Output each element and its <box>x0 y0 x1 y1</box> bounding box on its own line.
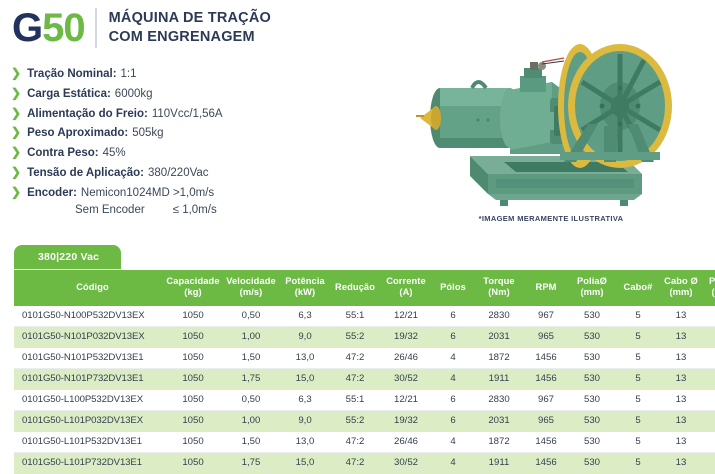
table-row: 0101G50-L101P732DV13E110501,7515,047:230… <box>14 452 715 473</box>
table-cell: 12/21 <box>380 306 432 327</box>
spec-item: ❯ Tração Nominal: 1:1 <box>11 66 351 83</box>
table-cell: 530 <box>568 326 616 347</box>
table-cell: 1,50 <box>222 347 280 368</box>
spec-subitem: Sem Encoder ≤ 1,0m/s <box>75 204 351 216</box>
spec-value: 6000kg <box>115 86 153 103</box>
table-cell: 9,0 <box>280 326 330 347</box>
spec-label: Contra Peso: <box>27 145 99 162</box>
col-header-passo: Passo (mm) <box>702 270 715 306</box>
logo-number: 50 <box>42 6 85 50</box>
spec-value: 45% <box>103 145 126 162</box>
table-cell: 1456 <box>524 431 568 452</box>
table-cell: 1050 <box>164 410 222 431</box>
cell-codigo: 0101G50-N101P532DV13E1 <box>14 347 164 368</box>
spec-value: 110Vcc/1,56A <box>152 106 223 123</box>
table-cell: 965 <box>524 410 568 431</box>
table-cell: 1911 <box>474 368 524 389</box>
spec-label: Carga Estática: <box>27 86 111 103</box>
table-cell: 5 <box>616 452 660 473</box>
page-title-line2: COM ENGRENAGEM <box>109 28 271 47</box>
table-cell: 1911 <box>474 452 524 473</box>
cell-codigo: 0101G50-L101P532DV13E1 <box>14 431 164 452</box>
table-row: 0101G50-N100P532DV13EX10500,506,355:112/… <box>14 306 715 327</box>
spec-table: Código Capacidade (kg) Velocidade (m/s) … <box>14 270 715 474</box>
spec-value: 505kg <box>132 125 163 142</box>
cell-codigo: 0101G50-N101P732DV13E1 <box>14 368 164 389</box>
spec-item: ❯ Peso Aproximado: 505kg <box>11 125 351 142</box>
table-cell: 2031 <box>474 410 524 431</box>
table-cell: 1872 <box>474 431 524 452</box>
cell-codigo: 0101G50-N101P032DV13EX <box>14 326 164 347</box>
table-header-row: Código Capacidade (kg) Velocidade (m/s) … <box>14 270 715 306</box>
table-cell: 13,0 <box>280 431 330 452</box>
cell-codigo: 0101G50-N100P532DV13EX <box>14 306 164 327</box>
table-cell: 0,50 <box>222 389 280 410</box>
table-cell: 19 <box>702 431 715 452</box>
table-cell: 13 <box>660 347 702 368</box>
chevron-right-icon: ❯ <box>11 165 21 181</box>
table-cell: 1,75 <box>222 368 280 389</box>
table-cell: 47:2 <box>330 347 380 368</box>
table-cell: 30/52 <box>380 368 432 389</box>
table-cell: 15,0 <box>280 368 330 389</box>
table-row: 0101G50-L101P032DV13EX10501,009,055:219/… <box>14 410 715 431</box>
page-header: G50 MÁQUINA DE TRAÇÃO COM ENGRENAGEM <box>12 8 271 48</box>
table-cell: 19 <box>702 306 715 327</box>
table-cell: 6,3 <box>280 306 330 327</box>
voltage-tab[interactable]: 380|220 Vac <box>14 245 121 269</box>
table-row: 0101G50-N101P032DV13EX10501,009,055:219/… <box>14 326 715 347</box>
table-header: Código Capacidade (kg) Velocidade (m/s) … <box>14 270 715 306</box>
col-header-cabo-diametro: Cabo Ø (mm) <box>660 270 702 306</box>
table-cell: 19 <box>702 389 715 410</box>
table-cell: 530 <box>568 368 616 389</box>
spec-item: ❯ Alimentação do Freio: 110Vcc/1,56A <box>11 106 351 123</box>
spec-item: ❯ Encoder: Nemicon1024MD >1,0m/s <box>11 185 351 202</box>
table-cell: 5 <box>616 431 660 452</box>
logo-letter: G <box>12 6 42 50</box>
page-title: MÁQUINA DE TRAÇÃO COM ENGRENAGEM <box>109 9 271 46</box>
table-cell: 0,50 <box>222 306 280 327</box>
table-cell: 47:2 <box>330 452 380 473</box>
table-cell: 12/21 <box>380 389 432 410</box>
table-cell: 967 <box>524 389 568 410</box>
table-row: 0101G50-N101P532DV13E110501,5013,047:226… <box>14 347 715 368</box>
spec-value: 1:1 <box>121 66 137 83</box>
col-header-rpm: RPM <box>524 270 568 306</box>
table-row: 0101G50-N101P732DV13E110501,7515,047:230… <box>14 368 715 389</box>
table-cell: 1050 <box>164 368 222 389</box>
table-cell: 4 <box>432 431 474 452</box>
chevron-right-icon: ❯ <box>11 125 21 141</box>
table-cell: 6 <box>432 389 474 410</box>
table-cell: 530 <box>568 389 616 410</box>
table-cell: 55:1 <box>330 306 380 327</box>
table-cell: 530 <box>568 410 616 431</box>
table-cell: 26/46 <box>380 431 432 452</box>
spec-sub-label: Sem Encoder <box>75 204 145 216</box>
spec-sub-value: ≤ 1,0m/s <box>173 204 217 216</box>
table-body: 0101G50-N100P532DV13EX10500,506,355:112/… <box>14 306 715 474</box>
spec-label: Encoder: <box>27 185 77 202</box>
table-cell: 19 <box>702 326 715 347</box>
cell-codigo: 0101G50-L100P532DV13EX <box>14 389 164 410</box>
table-cell: 13 <box>660 410 702 431</box>
spec-label: Tração Nominal: <box>27 66 116 83</box>
spec-item: ❯ Tensão de Aplicação: 380/220Vac <box>11 165 351 182</box>
col-header-polos: Pólos <box>432 270 474 306</box>
table-cell: 1,00 <box>222 326 280 347</box>
table-cell: 1050 <box>164 306 222 327</box>
table-cell: 15,0 <box>280 452 330 473</box>
table-cell: 55:2 <box>330 410 380 431</box>
table-cell: 5 <box>616 326 660 347</box>
image-caption: *IMAGEM MERAMENTE ILUSTRATIVA <box>392 214 710 223</box>
spec-value: 380/220Vac <box>148 165 209 182</box>
chevron-right-icon: ❯ <box>11 145 21 161</box>
table-cell: 2031 <box>474 326 524 347</box>
table-cell: 1,75 <box>222 452 280 473</box>
table-cell: 47:2 <box>330 431 380 452</box>
table-cell: 13 <box>660 326 702 347</box>
table-cell: 1,00 <box>222 410 280 431</box>
table-cell: 530 <box>568 452 616 473</box>
col-header-capacidade: Capacidade (kg) <box>164 270 222 306</box>
table-cell: 55:2 <box>330 326 380 347</box>
table-cell: 530 <box>568 431 616 452</box>
table-cell: 19/32 <box>380 326 432 347</box>
table-cell: 4 <box>432 347 474 368</box>
table-cell: 1050 <box>164 389 222 410</box>
table-cell: 5 <box>616 306 660 327</box>
cell-codigo: 0101G50-L101P732DV13E1 <box>14 452 164 473</box>
table-cell: 19/32 <box>380 410 432 431</box>
table-cell: 55:1 <box>330 389 380 410</box>
table-cell: 26/46 <box>380 347 432 368</box>
table-row: 0101G50-L100P532DV13EX10500,506,355:112/… <box>14 389 715 410</box>
spec-label: Tensão de Aplicação: <box>27 165 144 182</box>
table-cell: 4 <box>432 452 474 473</box>
table-cell: 1456 <box>524 368 568 389</box>
chevron-right-icon: ❯ <box>11 66 21 82</box>
table-cell: 13 <box>660 306 702 327</box>
product-image <box>392 14 710 214</box>
specs-list: ❯ Tração Nominal: 1:1 ❯ Carga Estática: … <box>11 66 351 216</box>
chevron-right-icon: ❯ <box>11 86 21 102</box>
table-cell: 1456 <box>524 347 568 368</box>
table-cell: 13 <box>660 431 702 452</box>
chevron-right-icon: ❯ <box>11 185 21 201</box>
table-cell: 47:2 <box>330 368 380 389</box>
col-header-corrente: Corrente (A) <box>380 270 432 306</box>
table-cell: 1050 <box>164 326 222 347</box>
product-logo: G50 <box>12 8 85 48</box>
col-header-reducao: Redução <box>330 270 380 306</box>
table-cell: 2830 <box>474 389 524 410</box>
table-cell: 6 <box>432 410 474 431</box>
table-cell: 13 <box>660 389 702 410</box>
table-cell: 13 <box>660 452 702 473</box>
table-cell: 1872 <box>474 347 524 368</box>
table-cell: 1050 <box>164 452 222 473</box>
col-header-torque: Torque (Nm) <box>474 270 524 306</box>
table-cell: 13 <box>660 368 702 389</box>
spec-label: Alimentação do Freio: <box>27 106 148 123</box>
table-cell: 13,0 <box>280 347 330 368</box>
spec-label: Peso Aproximado: <box>27 125 128 142</box>
table-cell: 19 <box>702 410 715 431</box>
table-cell: 2830 <box>474 306 524 327</box>
table-cell: 530 <box>568 347 616 368</box>
table-cell: 19 <box>702 452 715 473</box>
table-cell: 5 <box>616 368 660 389</box>
table-cell: 4 <box>432 368 474 389</box>
table-cell: 6 <box>432 306 474 327</box>
table-cell: 5 <box>616 410 660 431</box>
table-cell: 967 <box>524 306 568 327</box>
table-cell: 6 <box>432 326 474 347</box>
spec-item: ❯ Contra Peso: 45% <box>11 145 351 162</box>
table-cell: 5 <box>616 389 660 410</box>
table-cell: 1,50 <box>222 431 280 452</box>
spec-value: Nemicon1024MD >1,0m/s <box>81 185 214 202</box>
table-cell: 30/52 <box>380 452 432 473</box>
table-cell: 5 <box>616 347 660 368</box>
table-cell: 1456 <box>524 452 568 473</box>
table-cell: 9,0 <box>280 410 330 431</box>
logo-divider <box>95 8 97 48</box>
datasheet-page: G50 MÁQUINA DE TRAÇÃO COM ENGRENAGEM ❯ T… <box>0 0 715 468</box>
spec-table-wrapper: Código Capacidade (kg) Velocidade (m/s) … <box>14 270 714 474</box>
table-cell: 965 <box>524 326 568 347</box>
table-cell: 6,3 <box>280 389 330 410</box>
col-header-codigo: Código <box>14 270 164 306</box>
table-row: 0101G50-L101P532DV13E110501,5013,047:226… <box>14 431 715 452</box>
page-title-line1: MÁQUINA DE TRAÇÃO <box>109 9 271 28</box>
table-cell: 530 <box>568 306 616 327</box>
table-cell: 1050 <box>164 347 222 368</box>
chevron-right-icon: ❯ <box>11 106 21 122</box>
col-header-cabo-numero: Cabo# <box>616 270 660 306</box>
table-cell: 19 <box>702 368 715 389</box>
table-cell: 1050 <box>164 431 222 452</box>
table-cell: 19 <box>702 347 715 368</box>
col-header-velocidade: Velocidade (m/s) <box>222 270 280 306</box>
spec-item: ❯ Carga Estática: 6000kg <box>11 86 351 103</box>
traction-machine-illustration <box>392 14 710 214</box>
col-header-potencia: Potência (kW) <box>280 270 330 306</box>
cell-codigo: 0101G50-L101P032DV13EX <box>14 410 164 431</box>
col-header-polia-diametro: PoliaØ (mm) <box>568 270 616 306</box>
